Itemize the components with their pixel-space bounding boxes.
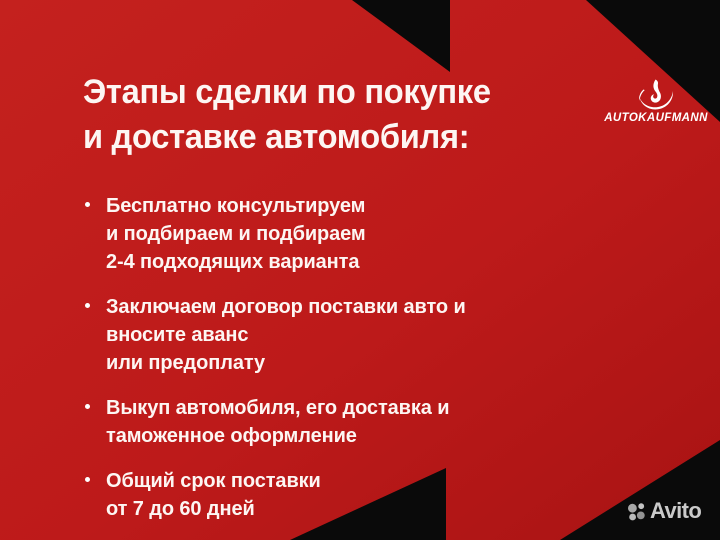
list-item-line: от 7 до 60 дней — [106, 495, 630, 523]
bullet-dot-icon — [85, 477, 90, 482]
list-item-line: Бесплатно консультируем — [106, 192, 630, 220]
page-title: Этапы сделки по покупке и доставке автом… — [83, 70, 603, 160]
list-item-line: таможенное оформление — [106, 422, 630, 450]
title-line-1: Этапы сделки по покупке — [83, 70, 582, 115]
avito-label: Avito — [650, 500, 701, 522]
list-item-line: или предоплату — [106, 349, 630, 377]
flame-logo-icon — [636, 78, 676, 111]
list-item: Заключаем договор поставки авто и вносит… — [83, 293, 643, 377]
avito-dots-icon — [627, 501, 647, 521]
list-item: Бесплатно консультируем и подбираем и по… — [83, 192, 643, 276]
avito-watermark: Avito — [627, 500, 701, 522]
list-item-line: Заключаем договор поставки авто и — [106, 293, 630, 321]
brand-name: AUTOKAUFMANN — [600, 112, 712, 124]
list-item-line: вносите аванс — [106, 321, 630, 349]
bullet-dot-icon — [85, 404, 90, 409]
list-item: Выкуп автомобиля, его доставка и таможен… — [83, 394, 643, 450]
list-item-line: 2-4 подходящих варианта — [106, 248, 630, 276]
list-item-line: Общий срок поставки — [106, 467, 630, 495]
list-item-line: Выкуп автомобиля, его доставка и — [106, 394, 630, 422]
title-line-2: и доставке автомобиля: — [83, 115, 582, 160]
brand-logo: AUTOKAUFMANN — [600, 78, 712, 124]
list-item-line: и подбираем и подбираем — [106, 220, 630, 248]
bullet-dot-icon — [85, 303, 90, 308]
steps-list: Бесплатно консультируем и подбираем и по… — [83, 192, 643, 540]
list-item: Общий срок поставки от 7 до 60 дней — [83, 467, 643, 523]
bullet-dot-icon — [85, 202, 90, 207]
promo-poster: Этапы сделки по покупке и доставке автом… — [0, 0, 720, 540]
